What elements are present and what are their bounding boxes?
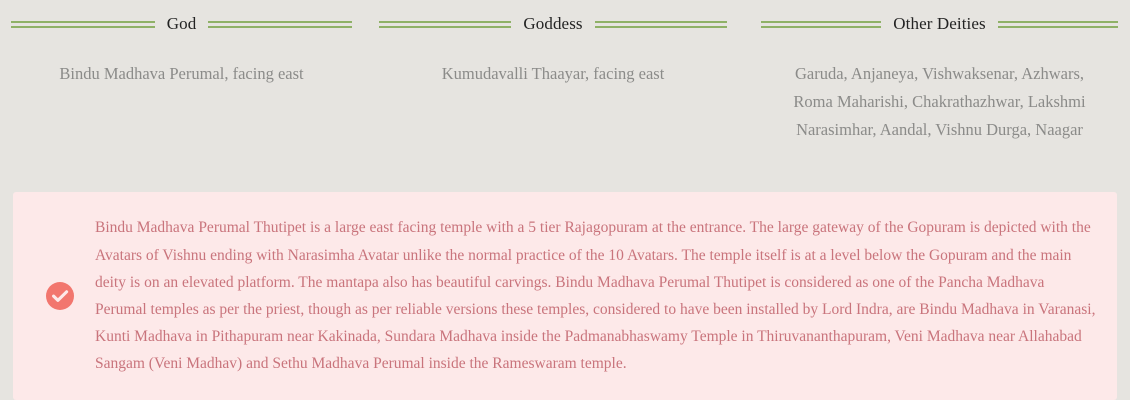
deity-column-other-deities-title: Other Deities (893, 14, 985, 34)
deity-column-god: God Bindu Madhava Perumal, facing east (0, 11, 363, 144)
deity-column-god-title: God (167, 14, 197, 34)
deity-column-other-deities-header: Other Deities (761, 11, 1118, 37)
heading-rule-right-icon (595, 21, 727, 28)
deity-list-line: Roma Maharishi, Chakrathazhwar, Lakshmi (761, 88, 1118, 116)
deity-list-line: Narasimhar, Aandal, Vishnu Durga, Naagar (761, 116, 1118, 144)
deity-column-god-header: God (11, 11, 352, 37)
deity-column-other-deities: Other Deities Garuda, Anjaneya, Vishwaks… (743, 11, 1130, 144)
deity-column-other-deities-value: Garuda, Anjaneya, Vishwaksenar, Azhwars,… (761, 60, 1118, 144)
heading-rule-left-icon (761, 21, 881, 28)
heading-rule-right-icon (998, 21, 1118, 28)
deity-list-line: Garuda, Anjaneya, Vishwaksenar, Azhwars, (761, 60, 1118, 88)
deity-summary-row: God Bindu Madhava Perumal, facing east G… (0, 0, 1130, 144)
deity-column-goddess-title: Goddess (523, 14, 582, 34)
deity-column-goddess-header: Goddess (379, 11, 727, 37)
heading-rule-left-icon (379, 21, 511, 28)
heading-rule-right-icon (208, 21, 352, 28)
temple-description-notice: Bindu Madhava Perumal Thutipet is a larg… (13, 192, 1117, 400)
deity-column-goddess: Goddess Kumudavalli Thaayar, facing east (363, 11, 743, 144)
heading-rule-left-icon (11, 21, 155, 28)
deity-column-goddess-value: Kumudavalli Thaayar, facing east (379, 60, 727, 88)
temple-description-text: Bindu Madhava Perumal Thutipet is a larg… (95, 214, 1101, 377)
deity-column-god-value: Bindu Madhava Perumal, facing east (11, 60, 352, 88)
check-circle-icon (45, 281, 75, 311)
